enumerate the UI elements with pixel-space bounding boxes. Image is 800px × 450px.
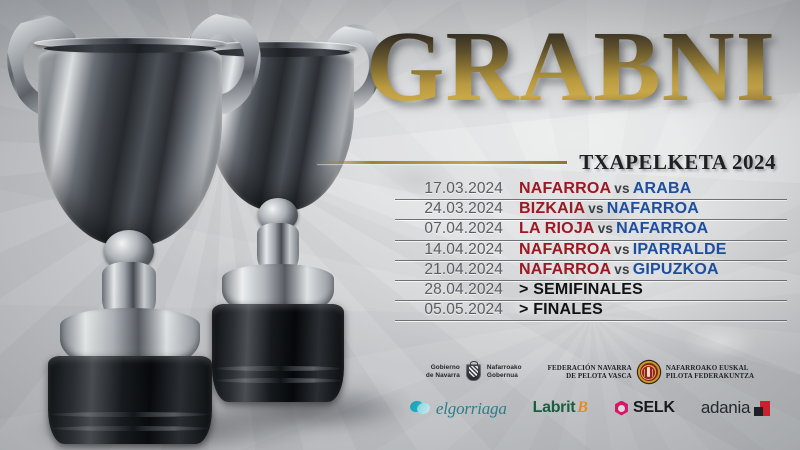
- gobernua-line1: Nafarroako: [487, 364, 522, 372]
- vs-label: vs: [595, 221, 616, 236]
- phase-label: > SEMIFINALES: [519, 281, 643, 299]
- federacion-text-eu: NAFARROAKO EUSKAL PILOTA FEDERAKUNTZA: [666, 364, 754, 381]
- vs-label: vs: [611, 181, 632, 196]
- trophy-base-front: [48, 356, 212, 444]
- home-team: NAFARROA: [519, 241, 611, 258]
- schedule-row: 17.03.2024 NAFARROAvsARABA: [395, 180, 787, 200]
- labrit-b-icon: B: [577, 399, 588, 417]
- match-teams: NAFARROAvsGIPUZKOA: [519, 261, 719, 279]
- federacion-text-es: FEDERACIÓN NAVARRA DE PELOTA VASCA: [548, 364, 632, 381]
- match-schedule: 17.03.2024 NAFARROAvsARABA 24.03.2024 BI…: [395, 180, 787, 321]
- gobierno-line2: de Navarra: [426, 372, 460, 380]
- logo-adania: adania: [701, 398, 770, 418]
- away-team: NAFARROA: [607, 200, 699, 217]
- schedule-row: 24.03.2024 BIZKAIAvsNAFARROA: [395, 200, 787, 220]
- subtitle-row: TXAPELKETA 2024: [317, 150, 776, 175]
- navarra-shield-icon: [466, 364, 481, 381]
- gobierno-navarra-text-eu: Nafarroako Gobernua: [487, 364, 522, 380]
- logo-gobierno-de-navarra: Gobierno de Navarra Nafarroako Gobernua: [426, 364, 522, 381]
- adania-flag-icon: [754, 401, 770, 416]
- match-date: 17.03.2024: [395, 180, 519, 198]
- pelota-federation-crest-icon: [638, 361, 660, 383]
- gobernua-line2: Gobernua: [487, 372, 522, 380]
- match-date: 14.04.2024: [395, 241, 519, 259]
- vs-label: vs: [611, 262, 632, 277]
- federacion-line1: FEDERACIÓN NAVARRA: [548, 364, 632, 372]
- away-team: GIPUZKOA: [633, 261, 719, 278]
- phase-label: > FINALES: [519, 301, 603, 319]
- gold-divider-rule: [317, 161, 567, 164]
- away-team: IPARRALDE: [633, 241, 727, 258]
- selk-label: SELK: [633, 399, 675, 417]
- federakuntza-line2: PILOTA FEDERAKUNTZA: [666, 372, 754, 380]
- match-date: 05.05.2024: [395, 301, 519, 319]
- elgorriaga-beans-icon: [410, 400, 431, 416]
- home-team: BIZKAIA: [519, 200, 585, 217]
- trophy-front: [30, 8, 230, 438]
- commercial-logo-row: elgorriaga Labrit B SELK adania: [390, 391, 790, 425]
- gobierno-navarra-text-es: Gobierno de Navarra: [426, 364, 460, 380]
- gobierno-line1: Gobierno: [426, 364, 460, 372]
- away-team: NAFARROA: [616, 220, 708, 237]
- sponsor-bar: Gobierno de Navarra Nafarroako Gobernua …: [390, 355, 790, 425]
- match-date: 24.03.2024: [395, 200, 519, 218]
- match-date: 21.04.2024: [395, 261, 519, 279]
- federacion-line2: DE PELOTA VASCA: [548, 372, 632, 380]
- schedule-row: 05.05.2024 > FINALES: [395, 301, 787, 321]
- match-date: 07.04.2024: [395, 220, 519, 238]
- tournament-poster: GRABNI TXAPELKETA 2024 17.03.2024 NAFARR…: [0, 0, 800, 450]
- vs-label: vs: [585, 201, 606, 216]
- schedule-row: 14.04.2024 NAFARROAvsIPARRALDE: [395, 241, 787, 261]
- away-team: ARABA: [633, 180, 692, 197]
- selk-hexagon-icon: [614, 401, 629, 416]
- logo-federacion-navarra-pelota-vasca: FEDERACIÓN NAVARRA DE PELOTA VASCA NAFAR…: [548, 361, 755, 383]
- schedule-row: 21.04.2024 NAFARROAvsGIPUZKOA: [395, 261, 787, 281]
- logo-elgorriaga: elgorriaga: [410, 400, 507, 417]
- logo-labrit: Labrit B: [533, 399, 588, 417]
- elgorriaga-label: elgorriaga: [436, 400, 507, 417]
- federakuntza-line1: NAFARROAKO EUSKAL: [666, 364, 754, 372]
- logo-selk: SELK: [614, 399, 675, 417]
- home-team: NAFARROA: [519, 261, 611, 278]
- trophy-bowl-front: [38, 42, 222, 246]
- title-block: GRABNI TXAPELKETA 2024: [330, 14, 790, 164]
- match-date: 28.04.2024: [395, 281, 519, 299]
- institutional-logo-row: Gobierno de Navarra Nafarroako Gobernua …: [390, 355, 790, 389]
- poster-subtitle: TXAPELKETA 2024: [579, 150, 776, 175]
- match-teams: BIZKAIAvsNAFARROA: [519, 200, 699, 218]
- match-teams: LA RIOJAvsNAFARROA: [519, 220, 708, 238]
- vs-label: vs: [611, 242, 632, 257]
- match-teams: NAFARROAvsIPARRALDE: [519, 241, 727, 259]
- home-team: NAFARROA: [519, 180, 611, 197]
- trophy-rim-inner-front: [44, 44, 217, 53]
- home-team: LA RIOJA: [519, 220, 595, 237]
- schedule-row: 28.04.2024 > SEMIFINALES: [395, 281, 787, 301]
- adania-label: adania: [701, 398, 750, 418]
- poster-title: GRABNI: [366, 16, 776, 117]
- schedule-row: 07.04.2024 LA RIOJAvsNAFARROA: [395, 220, 787, 240]
- trophy-base-back: [212, 304, 344, 402]
- labrit-label: Labrit: [533, 399, 576, 417]
- match-teams: NAFARROAvsARABA: [519, 180, 691, 198]
